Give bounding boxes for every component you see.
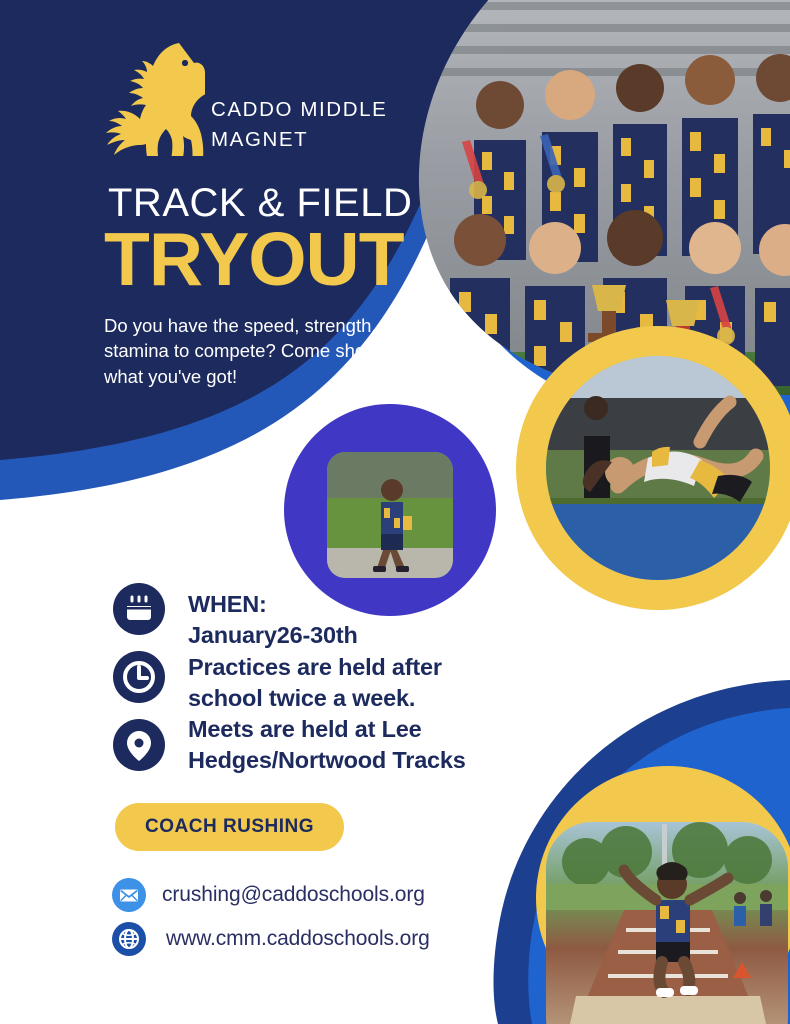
detail-line-2: January26-30th [188, 620, 568, 651]
location-pin-icon [113, 719, 165, 771]
detail-line-4: school twice a week. [188, 683, 568, 714]
email-address[interactable]: crushing@caddoschools.org [162, 883, 425, 907]
shot-put-photo [327, 452, 453, 578]
school-name-line1: CADDO MIDDLE [211, 98, 387, 121]
headline-title: TRYOUT [104, 222, 404, 297]
high-jump-photo [546, 356, 770, 580]
school-name: CADDO MIDDLE MAGNET [211, 95, 451, 154]
calendar-icon [113, 583, 165, 635]
coach-name-badge[interactable]: COACH RUSHING [115, 803, 344, 851]
detail-line-5: Meets are held at Lee [188, 714, 568, 745]
detail-line-1: WHEN: [188, 589, 568, 620]
school-branding: CADDO MIDDLE MAGNET [93, 38, 453, 163]
website-url[interactable]: www.cmm.caddoschools.org [166, 927, 430, 951]
envelope-icon [112, 878, 146, 912]
email-contact-row[interactable]: crushing@caddoschools.org [112, 878, 425, 912]
flyer-canvas: CADDO MIDDLE MAGNET TRACK & FIELD TRYOUT… [0, 0, 790, 1024]
event-details: WHEN: January26-30th Practices are held … [188, 589, 568, 777]
long-jump-photo [546, 822, 790, 1024]
website-contact-row[interactable]: www.cmm.caddoschools.org [112, 922, 430, 956]
intro-paragraph: Do you have the speed, strength, or stam… [104, 313, 434, 389]
clock-icon [113, 651, 165, 703]
globe-icon [112, 922, 146, 956]
rearing-horse-logo [93, 38, 205, 156]
school-name-line2: MAGNET [211, 128, 308, 151]
detail-line-3: Practices are held after [188, 652, 568, 683]
detail-line-6: Hedges/Nortwood Tracks [188, 745, 568, 776]
detail-icon-column [113, 583, 169, 787]
